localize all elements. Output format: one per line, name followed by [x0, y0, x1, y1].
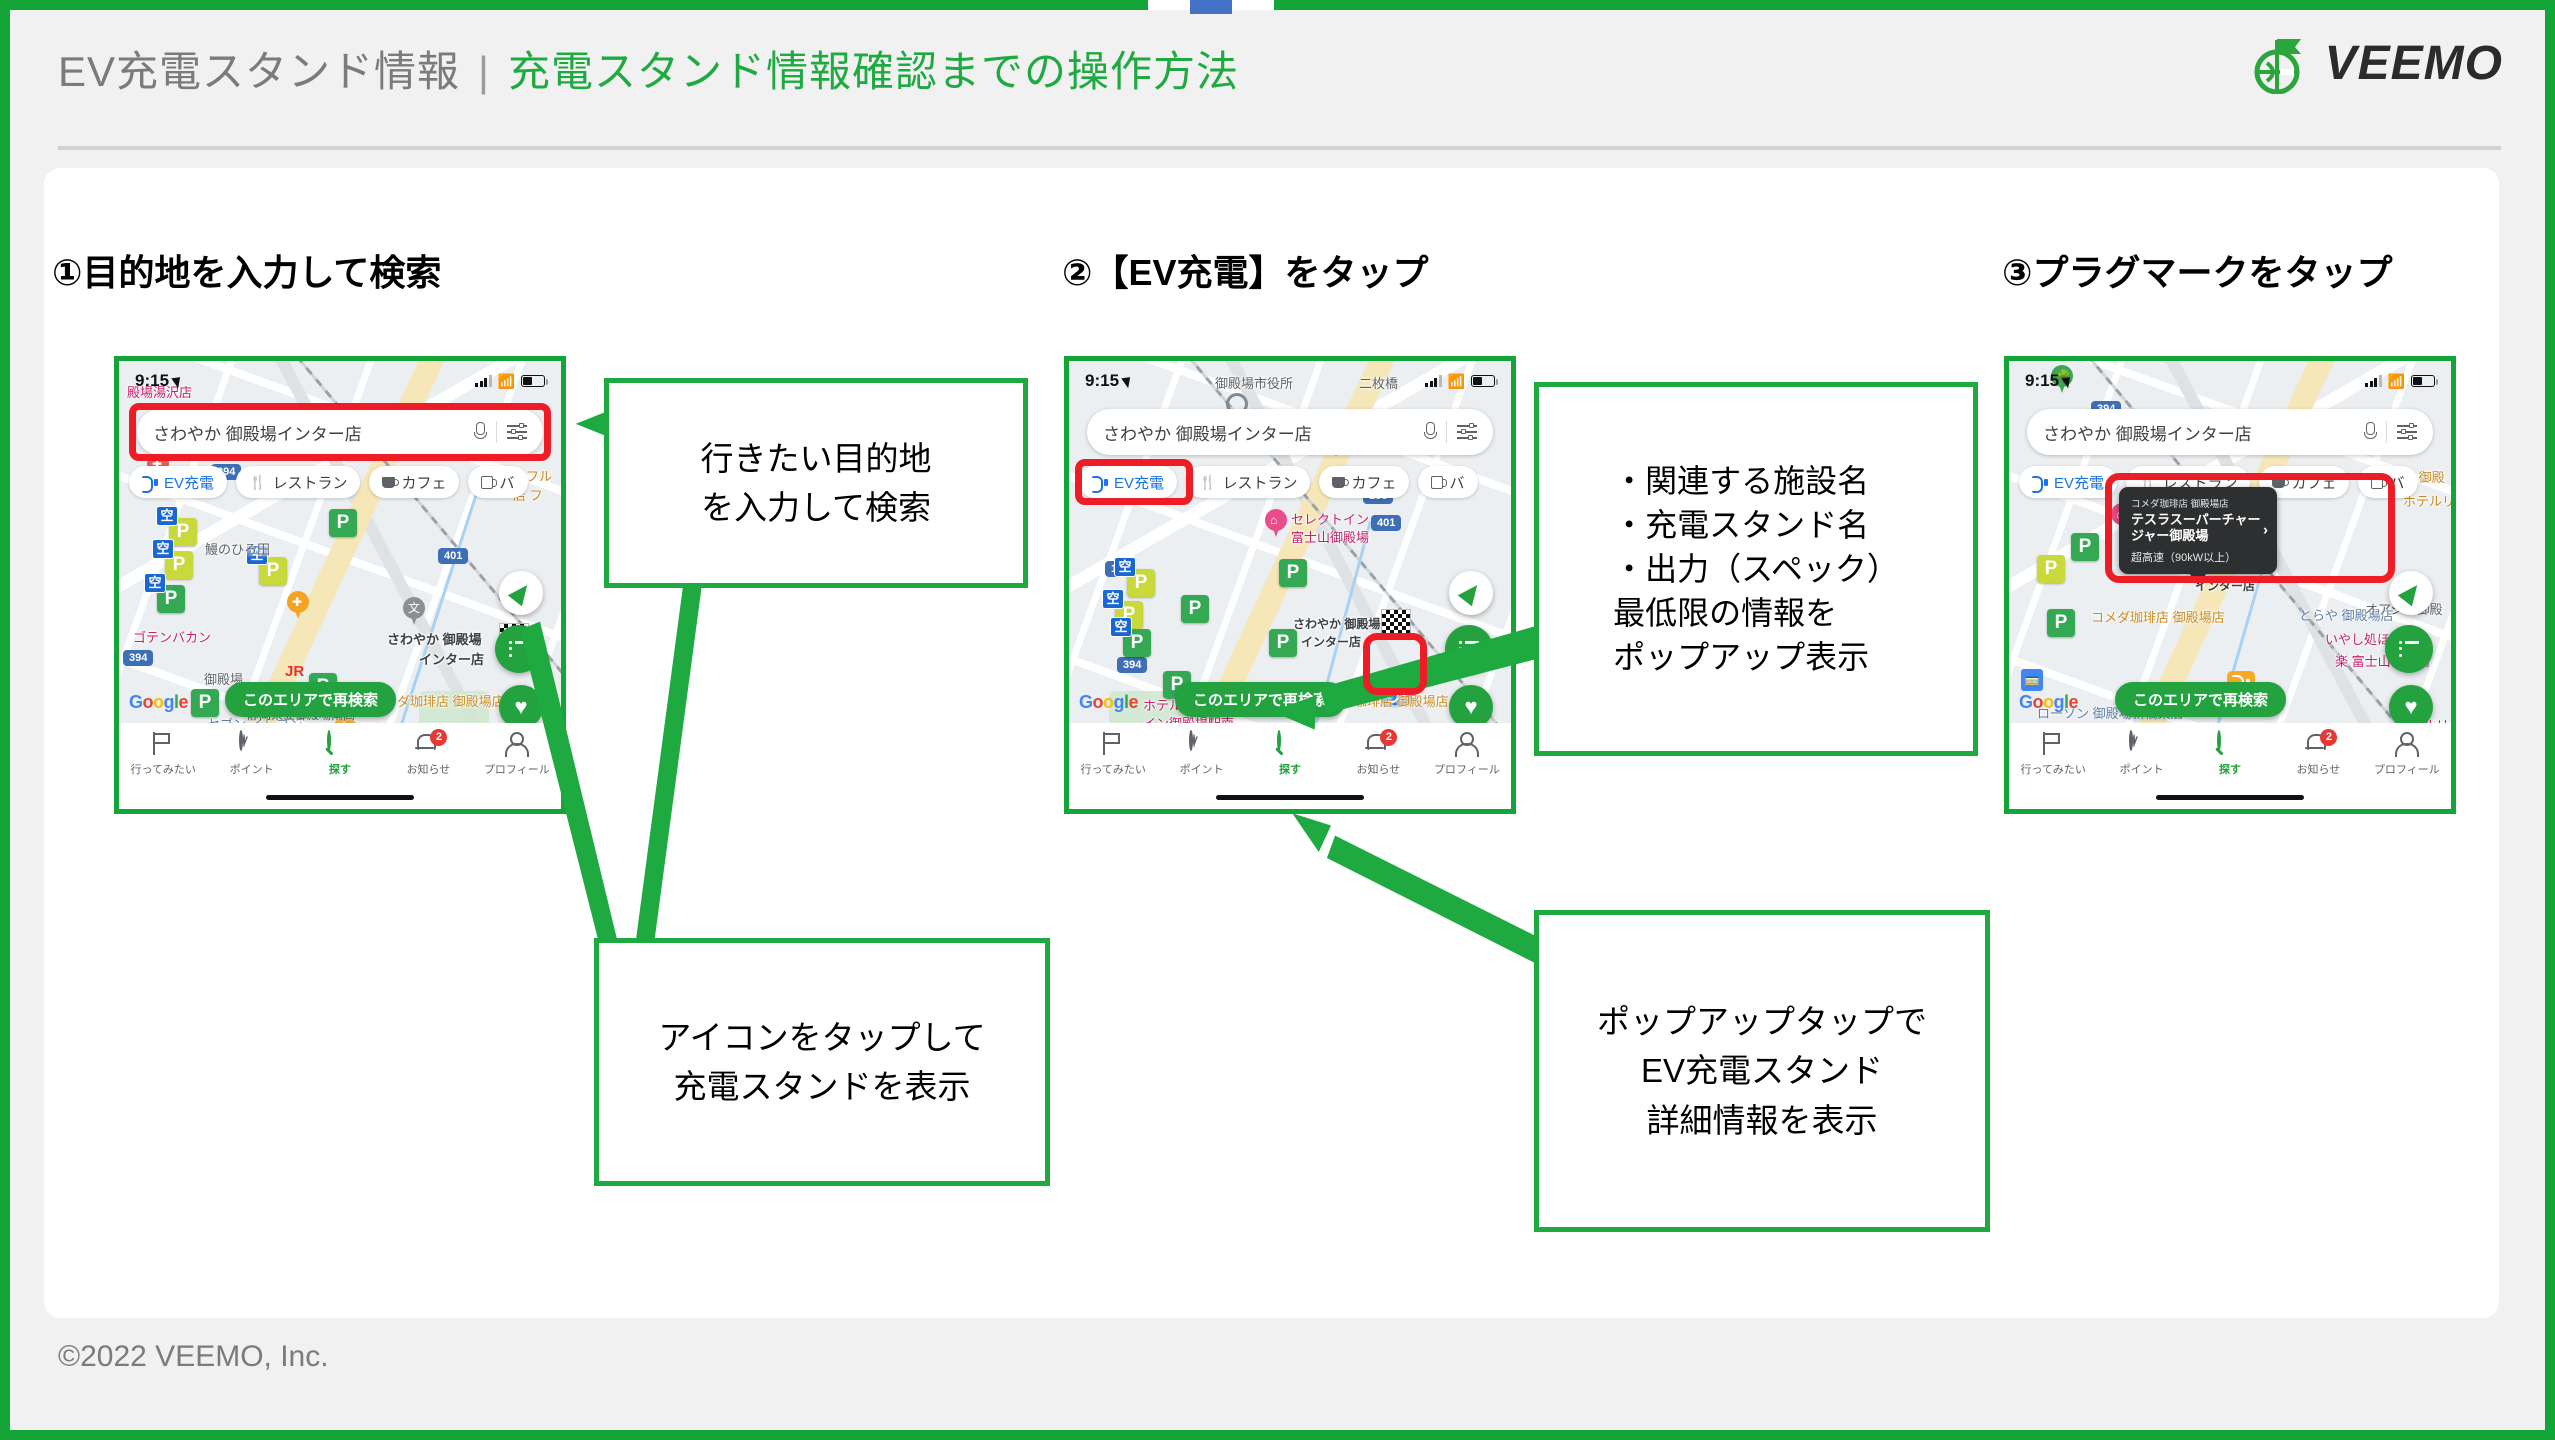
- tab-label: プロフィール: [2374, 761, 2440, 777]
- divider: [2386, 421, 2387, 443]
- parking-marker[interactable]: P空: [157, 585, 185, 613]
- callout-text: アイコンをタップして 充電スタンドを表示: [658, 1013, 985, 1112]
- phone-mockup-step3: 394 🌳 セレクトイン 富士山御殿場 ⌂ 寿司 御殿 ホテルリ P P P 🚃…: [2004, 356, 2456, 814]
- list-view-fab[interactable]: [2385, 625, 2433, 673]
- search-input[interactable]: さわやか 御殿場インター店: [1103, 420, 1423, 445]
- slide-root: EV充電スタンド情報|充電スタンド情報確認までの操作方法 VEEMO ①目的地を…: [0, 0, 2555, 1440]
- map-label: 鰻のひろ田: [205, 539, 270, 558]
- chip-label: EV充電: [164, 472, 214, 493]
- route-shield: 401: [1371, 515, 1401, 531]
- search-bar[interactable]: さわやか 御殿場インター店: [2027, 409, 2433, 455]
- list-icon: [1459, 641, 1479, 657]
- flag-icon: [1100, 732, 1126, 756]
- divider: [1446, 421, 1447, 443]
- tab-label: お知らせ: [1357, 761, 1401, 777]
- bell-icon: 2: [2305, 732, 2331, 756]
- microphone-icon[interactable]: [1423, 422, 1436, 442]
- map-label-destination: さわやか 御殿場: [387, 629, 482, 648]
- chip-cafe[interactable]: カフェ: [369, 466, 459, 498]
- home-indicator: [1216, 795, 1364, 800]
- home-indicator: [2156, 795, 2304, 800]
- tab-points[interactable]: ポイント: [207, 732, 295, 777]
- wifi-icon: 📶: [498, 373, 515, 390]
- cafe-cup-icon: [1332, 477, 1345, 488]
- callout-text: 行きたい目的地 を入力して検索: [701, 434, 932, 533]
- tab-label: プロフィール: [484, 761, 550, 777]
- vacancy-badge: 空: [156, 506, 178, 526]
- battery-icon: [2411, 375, 2435, 387]
- station-marker[interactable]: 🚃: [259, 813, 281, 814]
- tab-search[interactable]: 探す: [296, 732, 384, 777]
- tab-search[interactable]: 探す: [2186, 732, 2274, 777]
- heart-icon: ♥: [514, 696, 527, 718]
- vacancy-badge: 空: [144, 573, 166, 593]
- list-view-fab[interactable]: [1445, 625, 1493, 673]
- signal-bars-icon: [475, 375, 492, 387]
- parking-marker[interactable]: P: [2037, 555, 2065, 583]
- tune-filter-icon[interactable]: [1457, 423, 1477, 441]
- chip-label: レストラン: [1222, 472, 1297, 493]
- tab-label: 行ってみたい: [1080, 761, 1145, 777]
- signal-bars-icon: [1425, 375, 1442, 387]
- route-shield: 401: [438, 548, 468, 564]
- cafe-cup-icon: [382, 477, 395, 488]
- map-pin-school[interactable]: 文: [403, 597, 425, 627]
- person-icon: [504, 732, 530, 756]
- tune-filter-icon[interactable]: [2397, 423, 2417, 441]
- parking-marker[interactable]: P空: [1123, 629, 1151, 657]
- tab-label: 探す: [1279, 761, 1301, 777]
- location-arrow-icon: [1121, 374, 1134, 388]
- chip-restaurant[interactable]: 🍴レストラン: [236, 466, 360, 498]
- veemo-logo-text: VEEMO: [2325, 36, 2503, 91]
- signal-bars-icon: [2365, 375, 2382, 387]
- parking-marker[interactable]: P: [1279, 559, 1307, 587]
- slide-inner: EV充電スタンド情報|充電スタンド情報確認までの操作方法 VEEMO ①目的地を…: [10, 10, 2545, 1430]
- phone-mockup-step1: 401 394 401 394 殿場湯沢店 セレクトイン 富士山御殿場 ⌂ ✚ …: [114, 356, 566, 814]
- restaurant-fork-knife-icon: 🍴: [1199, 474, 1216, 491]
- locate-me-fab[interactable]: [1449, 571, 1493, 615]
- callout-tap-icon: アイコンをタップして 充電スタンドを表示: [594, 938, 1050, 1186]
- flag-icon: [2040, 732, 2066, 756]
- bar-beer-icon: [1431, 476, 1443, 489]
- tab-profile[interactable]: プロフィール: [2363, 732, 2451, 777]
- status-time: 9:15: [1085, 371, 1132, 391]
- tab-notifications[interactable]: 2お知らせ: [1334, 732, 1422, 777]
- veemo-flag-globe-icon: [2253, 32, 2311, 94]
- status-time: 9:15: [2025, 371, 2072, 391]
- notification-badge: 2: [1380, 729, 1397, 746]
- heart-icon: ♥: [2404, 696, 2417, 718]
- destination-flag-icon: [1381, 609, 1411, 635]
- callout-text: ポップアップタップで EV充電スタンド 詳細情報を表示: [1597, 997, 1927, 1146]
- status-time-text: 9:15: [135, 371, 169, 391]
- list-icon: [509, 641, 529, 657]
- tab-points[interactable]: ポイント: [2097, 732, 2185, 777]
- tab-label: 行ってみたい: [130, 761, 195, 777]
- tab-label: ポイント: [1180, 761, 1224, 777]
- bottom-tab-bar: 行ってみたい ポイント 探す 2お知らせ プロフィール: [1069, 723, 1511, 809]
- tab-points[interactable]: ポイント: [1157, 732, 1245, 777]
- search-bar[interactable]: さわやか 御殿場インター店: [1087, 409, 1493, 455]
- parking-marker[interactable]: P: [191, 689, 219, 717]
- footer-copyright: ©2022 VEEMO, Inc.: [58, 1340, 329, 1374]
- tab-label: ポイント: [230, 761, 274, 777]
- heart-icon: ♥: [1464, 696, 1477, 718]
- header-divider: [58, 146, 2501, 150]
- highlight-ev-plug-marker: [1363, 633, 1427, 695]
- wifi-icon: 📶: [1448, 373, 1465, 390]
- chip-cafe[interactable]: カフェ: [1319, 466, 1409, 498]
- map-label: コメダ珈琲店 御殿場店: [2091, 607, 2225, 626]
- wifi-icon: 📶: [2388, 373, 2405, 390]
- step-3-heading: ③プラグマークをタップ: [2002, 244, 2392, 296]
- location-arrow-icon: [2061, 374, 2074, 388]
- slide-header: EV充電スタンド情報|充電スタンド情報確認までの操作方法 VEEMO: [10, 10, 2545, 160]
- ev-charge-icon: [2032, 476, 2048, 489]
- tab-label: 探す: [329, 761, 351, 777]
- restaurant-fork-knife-icon: 🍴: [249, 474, 266, 491]
- callout-popup-tap: ポップアップタップで EV充電スタンド 詳細情報を表示: [1534, 910, 1990, 1232]
- person-icon: [1454, 732, 1480, 756]
- bottom-tab-bar: 行ってみたい ポイント 探す 2お知らせ プロフィール: [119, 723, 561, 809]
- route-shield: 394: [123, 650, 153, 666]
- map-label: 富士山御殿場: [1291, 527, 1369, 546]
- tab-label: 探す: [2219, 761, 2241, 777]
- parking-marker[interactable]: P空: [1127, 569, 1155, 597]
- chip-label: カフェ: [1351, 472, 1396, 493]
- tab-want-to-go[interactable]: 行ってみたい: [119, 732, 207, 777]
- tab-label: ポイント: [2120, 761, 2164, 777]
- map-pin-restaurant[interactable]: ✚: [287, 591, 309, 621]
- route-shield: 394: [1117, 657, 1147, 673]
- phone-mockup-step2: 御殿場市役所 二枚橋 138 153 394 401 セレクトイン 富士山御殿場…: [1064, 356, 1516, 814]
- navigation-arrow-icon: [508, 580, 534, 607]
- status-bar: 9:15 📶: [1069, 361, 1511, 401]
- notification-badge: 2: [430, 729, 447, 746]
- battery-icon: [521, 375, 545, 387]
- map-label: セレクトイン: [1291, 509, 1369, 528]
- callout-popup-contents: ・関連する施設名 ・充電スタンド名 ・出力（スペック） 最低限の情報を ポップア…: [1534, 382, 1978, 756]
- google-watermark: Google: [1079, 692, 1138, 713]
- tab-notifications[interactable]: 2お知らせ: [2274, 732, 2362, 777]
- tab-label: お知らせ: [2297, 761, 2341, 777]
- bell-icon: 2: [415, 732, 441, 756]
- bell-icon: 2: [1365, 732, 1391, 756]
- chip-ev-charge[interactable]: EV充電: [2019, 466, 2117, 498]
- map-label: ゴテンバカン: [133, 627, 211, 646]
- point-coin-icon: [239, 732, 265, 756]
- research-area-button[interactable]: このエリアで再検索: [225, 682, 396, 717]
- bar-beer-icon: [481, 476, 493, 489]
- list-view-fab[interactable]: [495, 625, 543, 673]
- callout-text: ・関連する施設名 ・充電スタンド名 ・出力（スペック） 最低限の情報を ポップア…: [1613, 459, 1899, 680]
- flag-icon: [150, 732, 176, 756]
- map-label-destination: インター店: [1301, 633, 1361, 650]
- map-pin-hotel[interactable]: ⌂: [1265, 509, 1287, 539]
- ev-charge-icon: [142, 476, 158, 489]
- page-title-primary: EV充電スタンド情報: [58, 48, 460, 95]
- notification-badge: 2: [2320, 729, 2337, 746]
- google-watermark: Google: [2019, 692, 2078, 713]
- veemo-logo: VEEMO: [2253, 32, 2503, 94]
- point-coin-icon: [1189, 732, 1215, 756]
- status-indicators: 📶: [2365, 373, 2435, 390]
- search-icon: [327, 732, 353, 756]
- tab-want-to-go[interactable]: 行ってみたい: [2009, 732, 2097, 777]
- research-area-button[interactable]: このエリアで再検索: [2115, 682, 2286, 717]
- tab-profile[interactable]: プロフィール: [473, 732, 561, 777]
- map-label: 御殿場新橋店: [2261, 811, 2339, 814]
- parking-marker[interactable]: P: [1269, 629, 1297, 657]
- parking-marker[interactable]: P: [329, 509, 357, 537]
- top-notch-accent: [1190, 0, 1232, 14]
- page-title: EV充電スタンド情報|充電スタンド情報確認までの操作方法: [58, 38, 1239, 99]
- parking-marker[interactable]: P: [1181, 595, 1209, 623]
- chip-label: カフェ: [401, 472, 446, 493]
- step-1-heading: ①目的地を入力して検索: [52, 244, 441, 296]
- tab-label: プロフィール: [1434, 761, 1500, 777]
- microphone-icon[interactable]: [2363, 422, 2376, 442]
- chip-label: バ: [1449, 472, 1464, 493]
- station-marker[interactable]: 🚃: [2021, 669, 2043, 691]
- status-bar: 9:15 📶: [119, 361, 561, 401]
- page-title-secondary: 充電スタンド情報確認までの操作方法: [508, 48, 1239, 95]
- search-icon: [2217, 732, 2243, 756]
- chip-restaurant[interactable]: 🍴レストラン: [1186, 466, 1310, 498]
- status-time: 9:15: [135, 371, 182, 391]
- locate-me-fab[interactable]: [2389, 571, 2433, 615]
- tab-want-to-go[interactable]: 行ってみたい: [1069, 732, 1157, 777]
- google-watermark: Google: [129, 692, 188, 713]
- home-indicator: [266, 795, 414, 800]
- page-title-separator: |: [460, 48, 508, 95]
- status-indicators: 📶: [475, 373, 545, 390]
- bottom-tab-bar: 行ってみたい ポイント 探す 2お知らせ プロフィール: [2009, 723, 2451, 809]
- chip-label: EV充電: [2054, 472, 2104, 493]
- navigation-arrow-icon: [1458, 580, 1484, 607]
- parking-marker[interactable]: P空: [259, 557, 287, 585]
- research-area-button[interactable]: このエリアで再検索: [1175, 682, 1346, 717]
- locate-me-fab[interactable]: [499, 571, 543, 615]
- vacancy-badge: 空: [152, 539, 174, 559]
- list-icon: [2399, 641, 2419, 657]
- point-coin-icon: [2129, 732, 2155, 756]
- tab-search[interactable]: 探す: [1246, 732, 1334, 777]
- location-arrow-icon: [171, 374, 184, 388]
- map-label-destination: さわやか 御殿場: [1293, 615, 1380, 632]
- highlight-popup: [2105, 473, 2395, 583]
- tab-label: お知らせ: [407, 761, 451, 777]
- person-icon: [2394, 732, 2420, 756]
- search-icon: [1277, 732, 1303, 756]
- chip-bar[interactable]: バ: [1418, 466, 1477, 498]
- parking-marker[interactable]: P: [2047, 609, 2075, 637]
- status-time-text: 9:15: [1085, 371, 1119, 391]
- chip-ev-charge[interactable]: EV充電: [129, 466, 227, 498]
- navigation-arrow-icon: [2398, 580, 2424, 607]
- parking-marker[interactable]: P空: [165, 551, 193, 579]
- search-input[interactable]: さわやか 御殿場インター店: [2043, 420, 2363, 445]
- chip-label: レストラン: [272, 472, 347, 493]
- chip-bar[interactable]: バ: [468, 466, 527, 498]
- tab-notifications[interactable]: 2お知らせ: [384, 732, 472, 777]
- chip-label: バ: [499, 472, 514, 493]
- status-indicators: 📶: [1425, 373, 1495, 390]
- parking-marker[interactable]: P: [2071, 533, 2099, 561]
- highlight-search-bar: [129, 403, 551, 461]
- map-label-destination: インター店: [419, 649, 484, 668]
- tab-profile[interactable]: プロフィール: [1423, 732, 1511, 777]
- highlight-ev-chip: [1075, 459, 1193, 505]
- category-chip-row: EV充電 🍴レストラン カフェ バ: [129, 465, 561, 499]
- tab-label: 行ってみたい: [2020, 761, 2085, 777]
- status-bar: 9:15 📶: [2009, 361, 2451, 401]
- jr-logo: JR: [285, 663, 304, 680]
- status-time-text: 9:15: [2025, 371, 2059, 391]
- callout-enter-destination: 行きたい目的地 を入力して検索: [604, 378, 1028, 588]
- battery-icon: [1471, 375, 1495, 387]
- step-2-heading: ②【EV充電】をタップ: [1062, 244, 1429, 296]
